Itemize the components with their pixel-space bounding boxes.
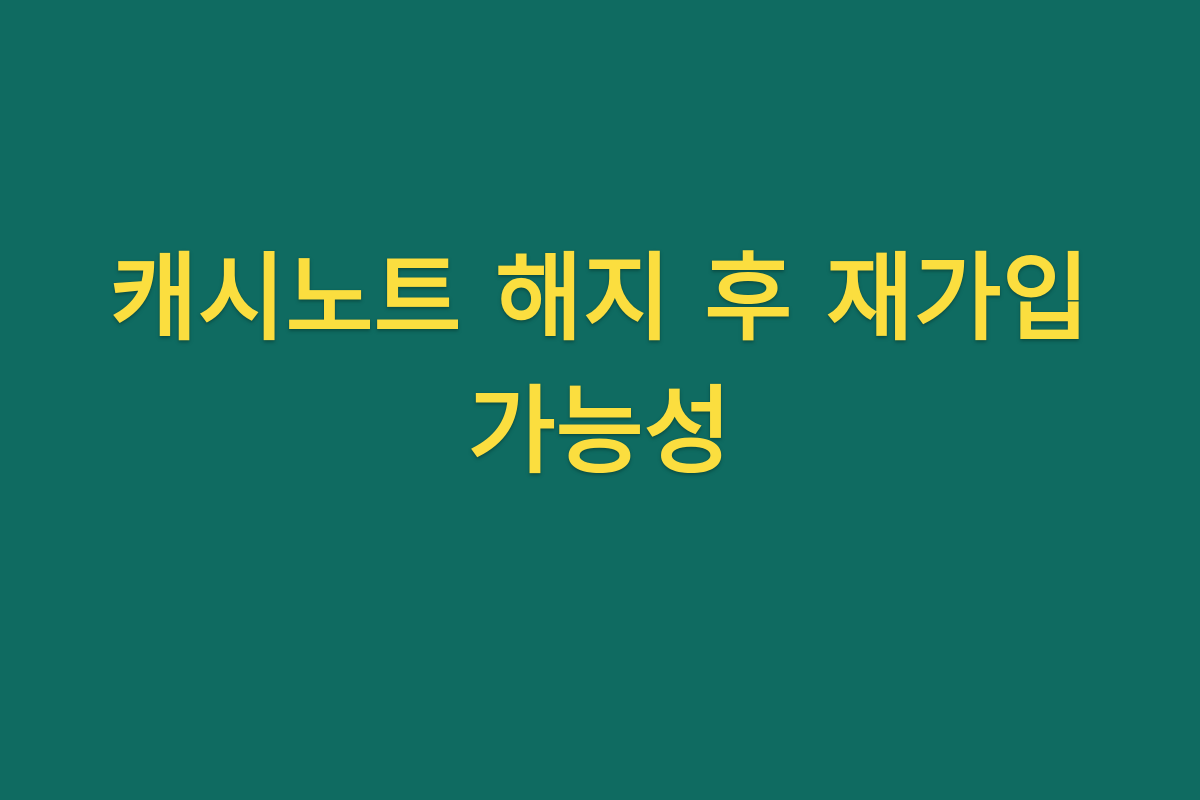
headline-line-1: 캐시노트 해지 후 재가입 — [110, 233, 1090, 366]
headline-block: 캐시노트 해지 후 재가입 가능성 — [50, 233, 1150, 499]
headline-line-2: 가능성 — [468, 366, 732, 499]
thumbnail-canvas: 캐시노트 해지 후 재가입 가능성 — [0, 0, 1200, 800]
